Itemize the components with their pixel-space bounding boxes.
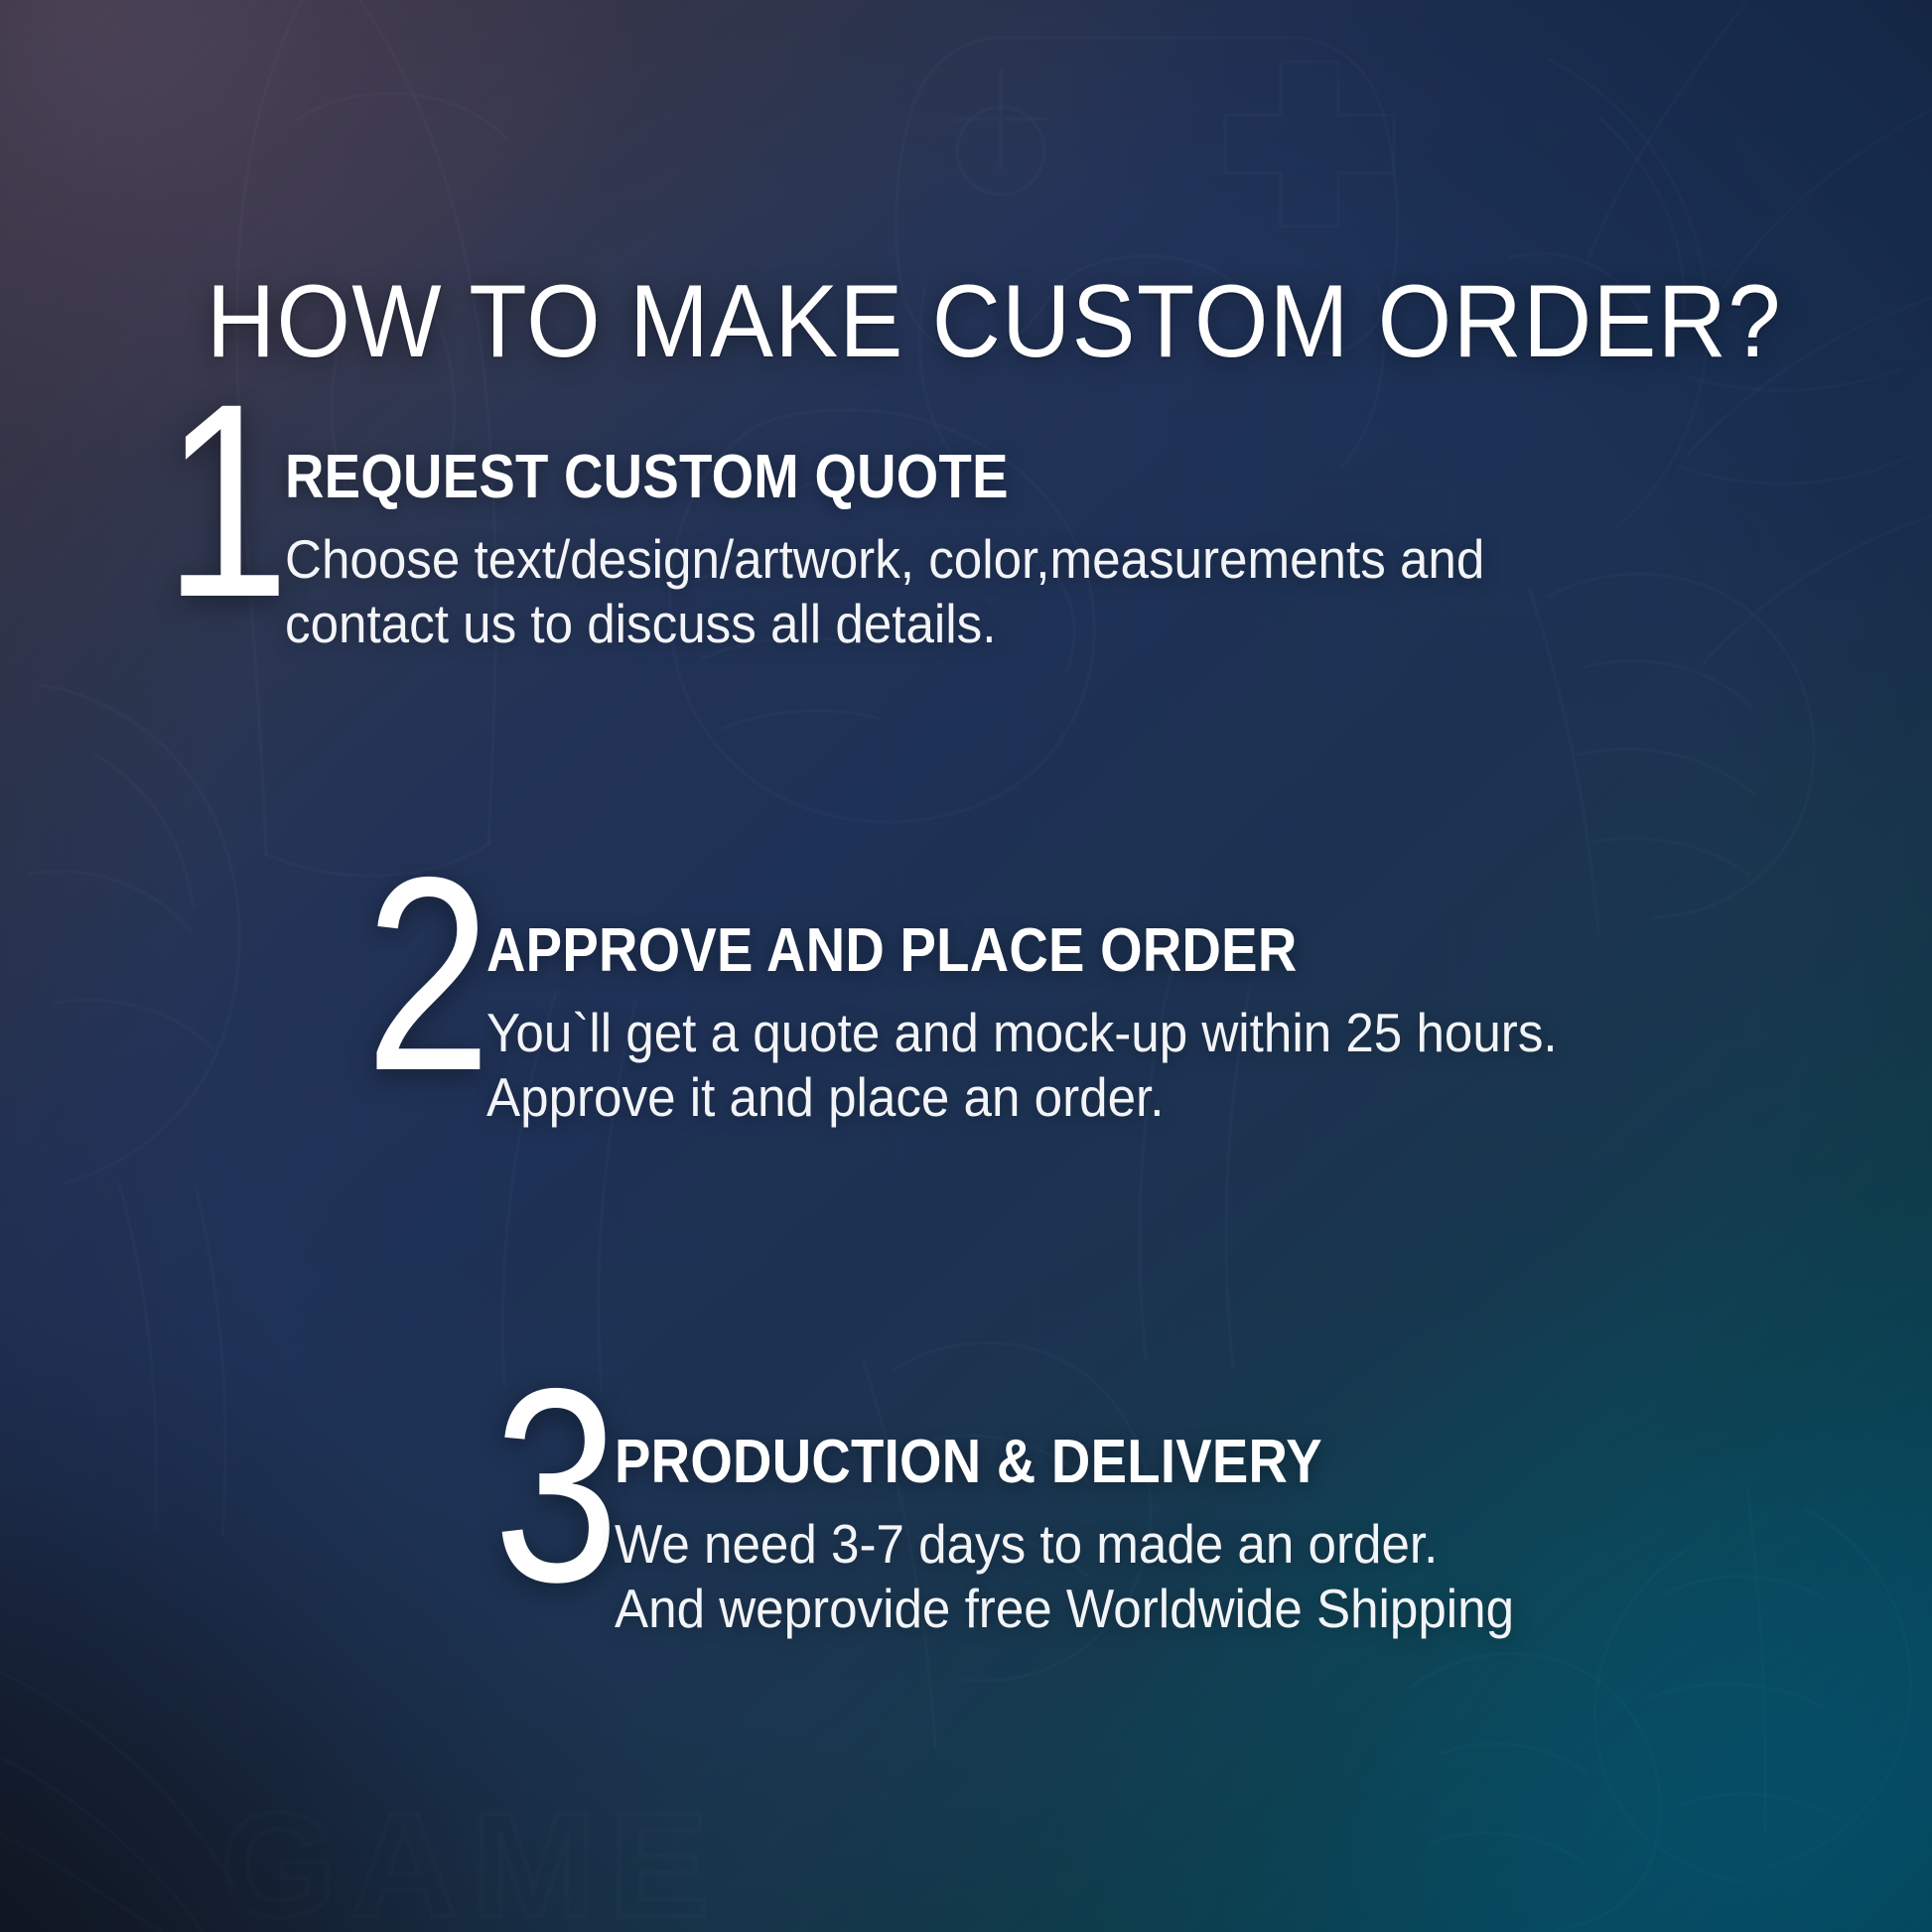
step-number-3: 3 xyxy=(493,1378,593,1593)
step-description-1: Choose text/design/artwork, color,measur… xyxy=(285,527,1484,656)
step-description-3: We need 3-7 days to made an order. And w… xyxy=(615,1512,1514,1641)
step-description-2-line-1: You`ll get a quote and mock-up within 25… xyxy=(486,1001,1558,1065)
step-description-3-line-1: We need 3-7 days to made an order. xyxy=(615,1512,1514,1577)
poster-root: GAME HOW TO MAKE CUSTOM ORDER? 1 REQUEST… xyxy=(0,0,1932,1932)
step-number-1: 1 xyxy=(164,393,263,609)
step-number-2: 2 xyxy=(365,867,465,1082)
step-description-2: You`ll get a quote and mock-up within 25… xyxy=(486,1001,1558,1130)
step-item-3: 3 PRODUCTION & DELIVERY We need 3-7 days… xyxy=(493,1400,1582,1641)
step-description-2-line-2: Approve it and place an order. xyxy=(486,1065,1558,1130)
step-item-2: 2 APPROVE AND PLACE ORDER You`ll get a q… xyxy=(365,889,1638,1130)
step-description-1-line-1: Choose text/design/artwork, color,measur… xyxy=(285,527,1484,592)
step-body-3: PRODUCTION & DELIVERY We need 3-7 days t… xyxy=(615,1400,1582,1641)
poster-content: HOW TO MAKE CUSTOM ORDER? 1 REQUEST CUST… xyxy=(0,0,1932,1932)
step-heading-1: REQUEST CUSTOM QUOTE xyxy=(285,445,1420,509)
step-body-2: APPROVE AND PLACE ORDER You`ll get a quo… xyxy=(486,889,1638,1130)
page-title: HOW TO MAKE CUSTOM ORDER? xyxy=(207,263,1782,381)
step-item-1: 1 REQUEST CUSTOM QUOTE Choose text/desig… xyxy=(164,415,1575,656)
step-heading-3: PRODUCTION & DELIVERY xyxy=(615,1430,1465,1494)
step-description-1-line-2: contact us to discuss all details. xyxy=(285,592,1484,656)
step-heading-2: APPROVE AND PLACE ORDER xyxy=(486,918,1500,983)
step-body-1: REQUEST CUSTOM QUOTE Choose text/design/… xyxy=(285,415,1575,656)
step-description-3-line-2: And weprovide free Worldwide Shipping xyxy=(615,1577,1514,1641)
